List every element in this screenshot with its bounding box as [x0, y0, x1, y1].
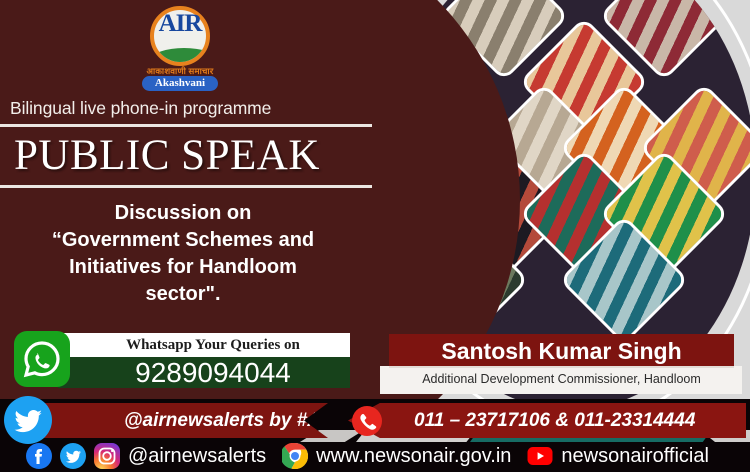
- twitter-icon[interactable]: [60, 443, 86, 469]
- twitter-icon[interactable]: [4, 396, 52, 444]
- whatsapp-number: 9289094044: [58, 357, 350, 388]
- youtube-handle[interactable]: newsonairofficial: [561, 445, 709, 468]
- programme-tagline: Bilingual live phone-in programme: [10, 98, 350, 119]
- phone-icon[interactable]: [352, 406, 382, 436]
- whatsapp-icon[interactable]: [14, 331, 70, 387]
- air-logo-name-plate: Akashvani: [142, 76, 218, 91]
- whatsapp-number-strip: 9289094044: [58, 357, 350, 388]
- discussion-line: sector".: [18, 281, 348, 308]
- instagram-handle[interactable]: @airnewsalerts: [128, 445, 266, 468]
- twitter-handle-text: @airnewsalerts by #AskAIR: [28, 403, 328, 438]
- speaker-name-band: Santosh Kumar Singh: [389, 334, 734, 368]
- discussion-line: Discussion on: [18, 200, 348, 227]
- youtube-icon[interactable]: [527, 443, 553, 469]
- twitter-handle-ribbon: @airnewsalerts by #AskAIR: [28, 403, 328, 438]
- air-logo-green-arc: [152, 48, 210, 66]
- discussion-line: “Government Schemes and: [18, 227, 348, 254]
- whatsapp-label: Whatsapp Your Queries on: [58, 333, 350, 357]
- air-akashvani-logo: AIR आकाशवाणी समाचार Akashvani: [132, 4, 228, 96]
- title-band: PUBLIC SPEAK: [0, 124, 372, 188]
- whatsapp-contact-box: Whatsapp Your Queries on 9289094044: [14, 331, 350, 389]
- page-title: PUBLIC SPEAK: [0, 127, 372, 185]
- instagram-icon[interactable]: [94, 443, 120, 469]
- poster-root: AIR आकाशवाणी समाचार Akashvani Bilingual …: [0, 0, 750, 472]
- website-url[interactable]: www.newsonair.gov.in: [316, 445, 511, 468]
- facebook-icon[interactable]: [26, 443, 52, 469]
- social-links-row: @airnewsalerts www.newsonair.gov.in news…: [0, 440, 750, 472]
- speaker-name: Santosh Kumar Singh: [389, 334, 734, 368]
- discussion-line: Initiatives for Handloom: [18, 254, 348, 281]
- whatsapp-label-strip: Whatsapp Your Queries on: [58, 333, 350, 357]
- speaker-designation: Additional Development Commissioner, Han…: [389, 372, 734, 386]
- air-logo-monogram: AIR: [132, 10, 228, 38]
- phone-numbers-ribbon: 011 – 23717106 & 011-23314444: [348, 403, 746, 438]
- discussion-topic: Discussion on “Government Schemes and In…: [18, 200, 348, 308]
- phone-numbers-text: 011 – 23717106 & 011-23314444: [348, 403, 746, 438]
- chrome-icon[interactable]: [282, 443, 308, 469]
